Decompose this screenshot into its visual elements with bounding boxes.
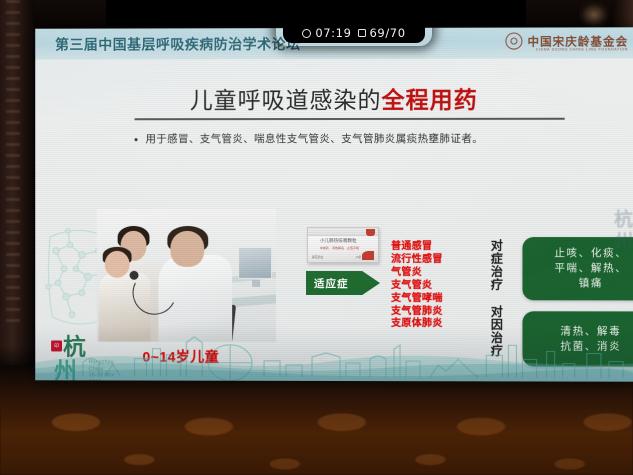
projection-screen: 第三届中国基层呼吸疾病防治学术论坛 中国宋庆龄基金会 CHINA SOONG C… (35, 27, 633, 381)
page-title-accent: 全程用药 (382, 87, 478, 114)
indications-list: 普通感冒 流行性感冒 气管炎 支气管炎 支气管哮喘 支气管肺炎 支原体肺炎 (391, 241, 443, 331)
foundation-seal-icon (505, 33, 522, 50)
bullet-item: 用于感冒、支气管炎、喘息性支气管炎、支气管肺炎属痰热壅肺证者。 (135, 131, 633, 146)
sponsor-name-en: CHINA SOONG CHING LING FOUNDATION (536, 47, 628, 51)
list-item: 支气管炎 (391, 280, 443, 292)
clock-icon (302, 29, 311, 38)
product-name: 小儿肺热咳喘颗粒 (320, 238, 357, 244)
product-brand: 葵花药业 (312, 255, 323, 259)
wave-graphic (35, 346, 633, 381)
list-item: 支气管哮喘 (391, 293, 443, 305)
patterned-carpet (0, 365, 633, 475)
player-osd-bar[interactable]: 07:19 69/70 (283, 23, 425, 43)
treatment-line: 平喘、解热、 (554, 261, 627, 276)
product-subtitle: 中成药 · 清热解毒 · 止咳平喘 (320, 246, 359, 250)
title-divider (135, 118, 565, 120)
event-title: 第三届中国基层呼吸疾病防治学术论坛 (55, 34, 300, 54)
product-box-image: 小儿肺热咳喘颗粒 中成药 · 清热解毒 · 止咳平喘 葵花药业 12袋 (307, 227, 379, 263)
osd-time-group: 07:19 (302, 26, 351, 40)
ceiling-lamp-glow (579, 2, 609, 28)
slide-watermark: 杭州 (612, 209, 632, 253)
page-icon (358, 29, 366, 37)
slide-content: 儿童呼吸道感染的全程用药 用于感冒、支气管炎、喘息性支气管炎、支气管肺炎属痰热壅… (35, 58, 633, 381)
list-item: 气管炎 (391, 267, 443, 279)
page-title: 儿童呼吸道感染的全程用药 (35, 80, 633, 115)
osd-page-counter: 69/70 (370, 26, 406, 40)
indications-arrow-label: 适应症 (314, 275, 348, 290)
photo-monitor (238, 247, 272, 279)
bullet-dot-icon (135, 138, 138, 141)
treatment-label-symptomatic: 对症治疗 (489, 239, 502, 295)
page-title-plain: 儿童呼吸道感染的 (190, 88, 382, 114)
treatment-line: 镇痛 (579, 276, 603, 291)
product-badge: 12袋 (356, 255, 361, 259)
indications-arrow: 适应症 (306, 271, 380, 295)
list-item: 流行性感冒 (391, 254, 443, 266)
osd-time: 07:19 (315, 26, 351, 40)
list-item: 支气管肺炎 (391, 306, 443, 318)
osd-page-group: 69/70 (358, 26, 406, 40)
bullet-text: 用于感冒、支气管炎、喘息性支气管炎、支气管肺炎属痰热壅肺证者。 (145, 131, 483, 146)
list-item: 普通感冒 (391, 241, 443, 253)
